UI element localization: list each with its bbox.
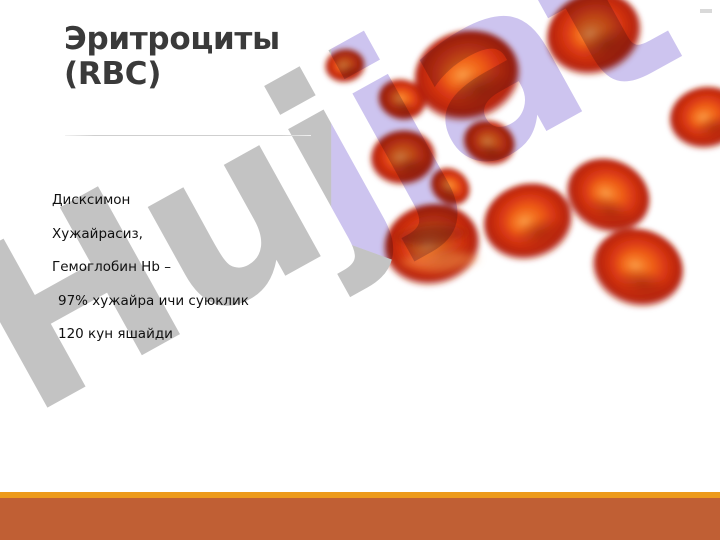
body-line: 120 кун яшайди — [52, 326, 352, 342]
body-line: Гемоглобин Hb – — [52, 259, 352, 275]
slide: Hujjat Hujjat Эритроциты (RBC) Дисксимон… — [0, 0, 720, 540]
body-line: 97% хужайра ичи суюклик — [52, 293, 352, 309]
title-divider — [65, 135, 311, 136]
body-text-block: Дисксимон Хужайрасиз, Гемоглобин Hb – 97… — [52, 192, 352, 360]
slide-title: Эритроциты (RBC) — [64, 22, 354, 91]
footer-bar — [0, 498, 720, 540]
body-line: Дисксимон — [52, 192, 352, 208]
corner-artifact — [700, 9, 712, 13]
body-line: Хужайрасиз, — [52, 226, 352, 242]
